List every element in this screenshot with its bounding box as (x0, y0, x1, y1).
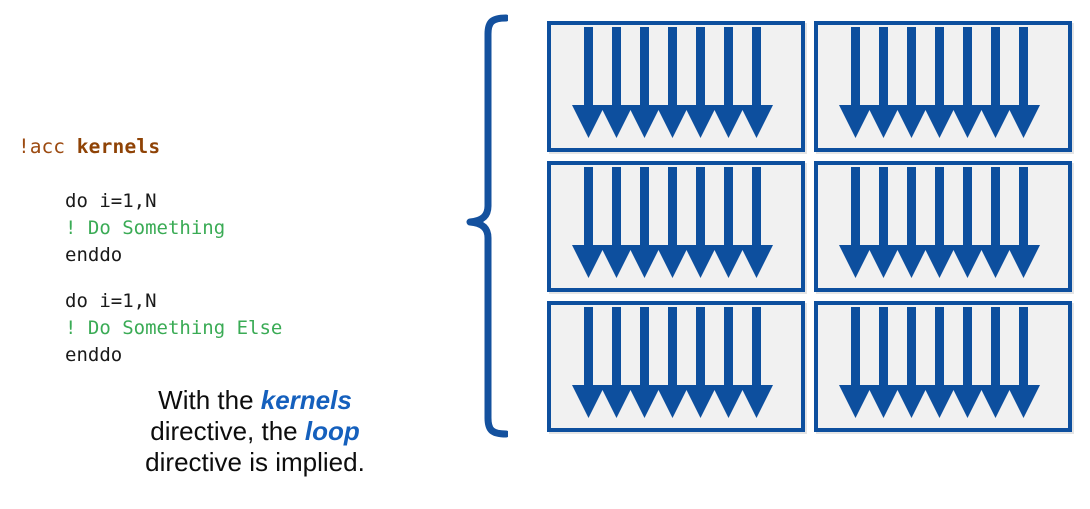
code-loop-block-2: do i=1,N ! Do Something Else enddo (65, 288, 282, 369)
gang-box-3 (547, 161, 805, 292)
acc-directive-line: !acc kernels (18, 133, 160, 160)
gang-box-2 (814, 21, 1072, 152)
caption-keyword-loop: loop (305, 416, 360, 446)
arrow-set-1 (551, 25, 801, 148)
loop1-open: do i=1,N (65, 190, 157, 212)
left-curly-brace-icon (466, 14, 508, 438)
arrow-set-2 (818, 25, 1068, 148)
loop1-comment: ! Do Something (65, 217, 225, 239)
gang-box-4 (814, 161, 1072, 292)
caption-line1-pre: With the (158, 385, 261, 415)
code-loop-block-1: do i=1,N ! Do Something enddo (65, 188, 225, 269)
caption-line2-pre: directive, the (150, 416, 305, 446)
acc-directive-sigil: !acc (18, 135, 65, 158)
caption-text: With the kernels directive, the loop dir… (60, 385, 450, 478)
gang-grid (547, 21, 1072, 432)
slide-canvas: !acc kernels do i=1,N ! Do Something end… (0, 0, 1090, 509)
directive-space (65, 135, 77, 158)
arrow-set-3 (551, 165, 801, 288)
caption-keyword-kernels: kernels (261, 385, 352, 415)
caption-line3: directive is implied. (145, 447, 365, 477)
loop2-open: do i=1,N (65, 290, 157, 312)
arrow-set-4 (818, 165, 1068, 288)
loop1-close: enddo (65, 244, 122, 266)
gang-box-6 (814, 301, 1072, 432)
gang-box-5 (547, 301, 805, 432)
loop2-comment: ! Do Something Else (65, 317, 282, 339)
acc-directive-keyword: kernels (77, 135, 161, 158)
gang-box-1 (547, 21, 805, 152)
loop2-close: enddo (65, 344, 122, 366)
arrow-set-5 (551, 305, 801, 428)
code-panel: !acc kernels do i=1,N ! Do Something end… (0, 0, 460, 509)
arrow-set-6 (818, 305, 1068, 428)
